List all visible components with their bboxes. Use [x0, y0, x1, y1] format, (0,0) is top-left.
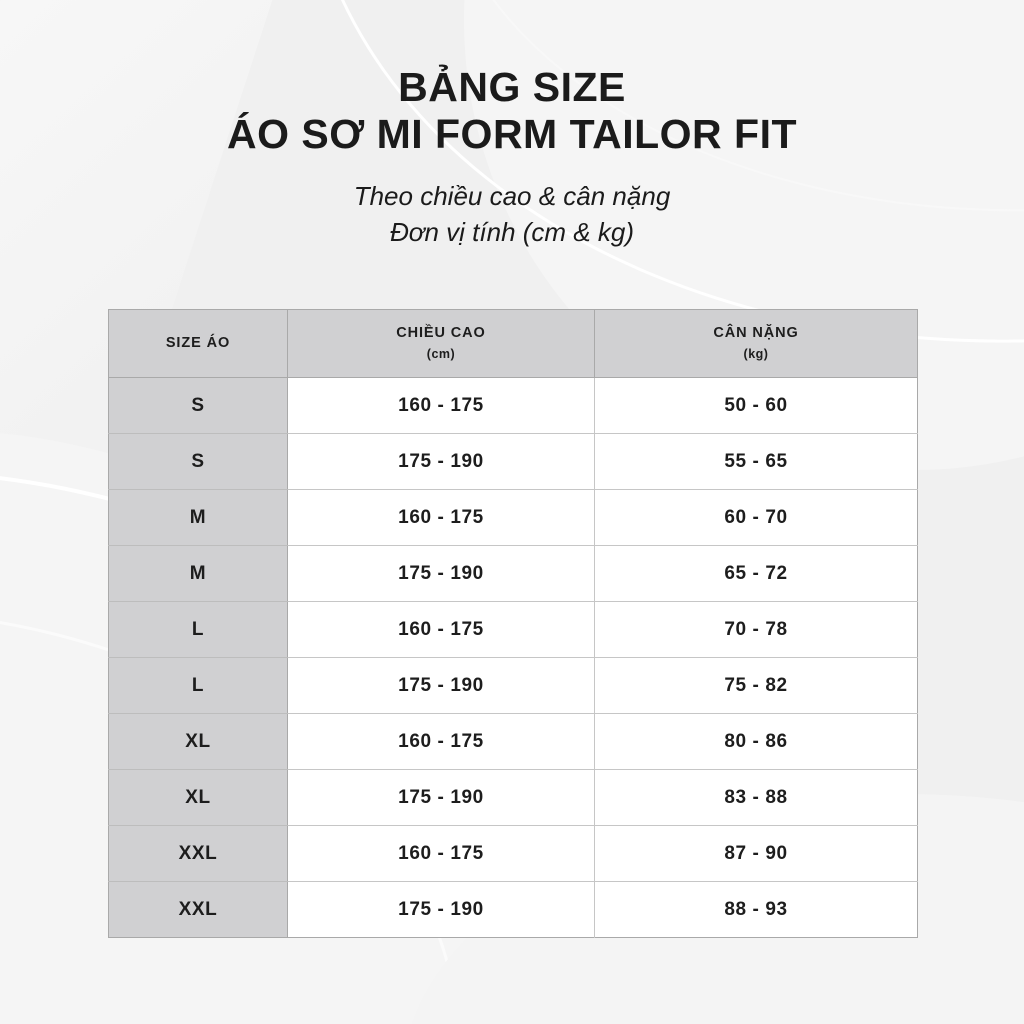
cell-size: M: [109, 490, 288, 546]
cell-size: L: [109, 658, 288, 714]
table-row: XL175 - 19083 - 88: [109, 770, 918, 826]
column-header-size: SIZE ÁO: [109, 310, 288, 378]
cell-size: L: [109, 602, 288, 658]
size-table-container: SIZE ÁO CHIỀU CAO (cm) CÂN NẶNG (kg) S16…: [108, 309, 917, 938]
table-row: S160 - 17550 - 60: [109, 378, 918, 434]
column-header-weight-label: CÂN NẶNG: [713, 325, 798, 341]
cell-weight: 70 - 78: [595, 602, 918, 658]
table-row: M160 - 17560 - 70: [109, 490, 918, 546]
column-header-height-unit: (cm): [288, 345, 594, 364]
size-chart-page: BẢNG SIZE ÁO SƠ MI FORM TAILOR FIT Theo …: [0, 0, 1024, 1024]
column-header-height-label: CHIỀU CAO: [396, 325, 485, 341]
cell-weight: 83 - 88: [595, 770, 918, 826]
cell-size: XL: [109, 770, 288, 826]
cell-height: 160 - 175: [288, 826, 595, 882]
cell-height: 175 - 190: [288, 658, 595, 714]
cell-weight: 60 - 70: [595, 490, 918, 546]
cell-weight: 75 - 82: [595, 658, 918, 714]
table-row: XL160 - 17580 - 86: [109, 714, 918, 770]
cell-height: 175 - 190: [288, 434, 595, 490]
cell-weight: 50 - 60: [595, 378, 918, 434]
cell-weight: 65 - 72: [595, 546, 918, 602]
page-subtitle-line-2: Đơn vị tính (cm & kg): [0, 215, 1024, 251]
cell-height: 160 - 175: [288, 378, 595, 434]
cell-height: 175 - 190: [288, 770, 595, 826]
page-title-line-1: BẢNG SIZE: [0, 64, 1024, 111]
size-table: SIZE ÁO CHIỀU CAO (cm) CÂN NẶNG (kg) S16…: [108, 309, 918, 938]
cell-height: 160 - 175: [288, 714, 595, 770]
size-table-body: S160 - 17550 - 60S175 - 19055 - 65M160 -…: [109, 378, 918, 938]
column-header-weight-unit: (kg): [595, 345, 917, 364]
table-header-row: SIZE ÁO CHIỀU CAO (cm) CÂN NẶNG (kg): [109, 310, 918, 378]
cell-size: S: [109, 378, 288, 434]
cell-size: M: [109, 546, 288, 602]
cell-height: 175 - 190: [288, 546, 595, 602]
size-table-head: SIZE ÁO CHIỀU CAO (cm) CÂN NẶNG (kg): [109, 310, 918, 378]
cell-weight: 80 - 86: [595, 714, 918, 770]
cell-height: 160 - 175: [288, 490, 595, 546]
cell-size: XL: [109, 714, 288, 770]
table-row: S175 - 19055 - 65: [109, 434, 918, 490]
table-row: XXL175 - 19088 - 93: [109, 882, 918, 938]
cell-size: XXL: [109, 882, 288, 938]
cell-weight: 88 - 93: [595, 882, 918, 938]
page-subtitle-line-1: Theo chiều cao & cân nặng: [0, 179, 1024, 215]
cell-weight: 55 - 65: [595, 434, 918, 490]
page-title-line-2: ÁO SƠ MI FORM TAILOR FIT: [0, 111, 1024, 158]
cell-height: 160 - 175: [288, 602, 595, 658]
table-row: L175 - 19075 - 82: [109, 658, 918, 714]
page-header: BẢNG SIZE ÁO SƠ MI FORM TAILOR FIT Theo …: [0, 0, 1024, 251]
cell-height: 175 - 190: [288, 882, 595, 938]
table-row: M175 - 19065 - 72: [109, 546, 918, 602]
column-header-size-label: SIZE ÁO: [166, 335, 230, 351]
cell-size: XXL: [109, 826, 288, 882]
cell-weight: 87 - 90: [595, 826, 918, 882]
column-header-weight: CÂN NẶNG (kg): [595, 310, 918, 378]
column-header-height: CHIỀU CAO (cm): [288, 310, 595, 378]
table-row: L160 - 17570 - 78: [109, 602, 918, 658]
table-row: XXL160 - 17587 - 90: [109, 826, 918, 882]
cell-size: S: [109, 434, 288, 490]
